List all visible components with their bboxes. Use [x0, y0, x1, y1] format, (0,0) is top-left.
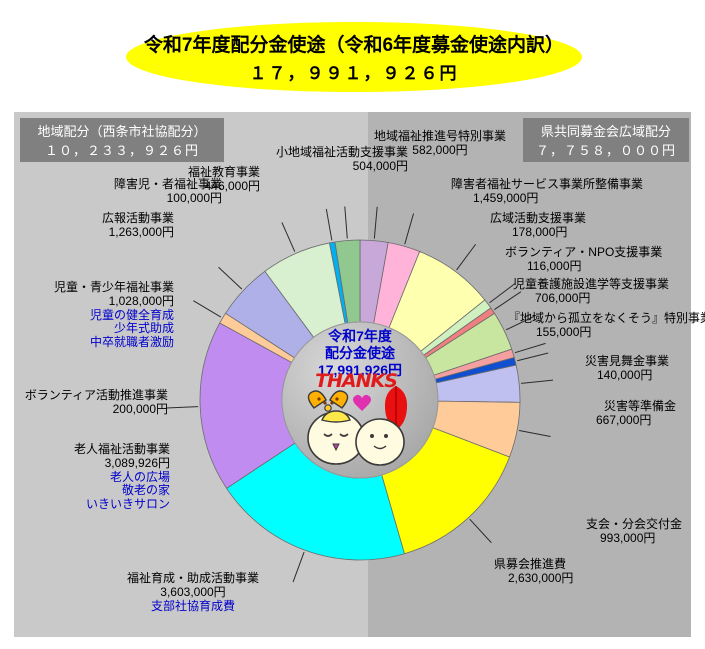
leader-line — [166, 407, 198, 408]
heart-icon — [353, 395, 371, 411]
ribbon-icon — [308, 391, 347, 411]
leader-line — [515, 343, 546, 352]
thanks-text: THANKS — [296, 370, 416, 392]
header-local-amount: １０，２３３，９２６円 — [45, 140, 199, 159]
leader-line — [490, 283, 516, 302]
leader-line — [345, 207, 348, 239]
label-jidou-yougo: 児童養護施設進学等支援事業 706,000円 — [513, 278, 669, 306]
leader-line — [219, 267, 242, 289]
label-kodoku-taisaku: 『地域から孤立をなくそう』特別事業 155,000円 — [508, 312, 705, 340]
label-shougaisha-service: 障害者福祉サービス事業所整備事業 1,459,000円 — [451, 178, 643, 206]
center-line-1: 令和7年度 — [286, 328, 434, 345]
label-kouhou-katsudou: 広報活動事業 1,263,000円 — [24, 212, 174, 240]
label-saigai-mimai: 災害見舞金事業 140,000円 — [585, 355, 669, 383]
leader-line — [521, 380, 553, 383]
leader-line — [193, 301, 220, 317]
label-fukushi-ikusei: 福祉育成・助成活動事業 3,603,000円 支部社協育成費 — [88, 572, 298, 613]
label-kenbokai-suishin: 県募会推進費 2,630,000円 — [494, 558, 573, 586]
leader-line — [519, 431, 550, 437]
leader-line — [405, 214, 414, 245]
page-title: 令和7年度配分金使途（令和6年度募金使途内訳） — [144, 30, 564, 57]
label-roujin-fukushi: 老人福祉活動事業 3,089,926円 老人の広場 敬老の家 いきいきサロン — [24, 443, 170, 512]
leader-line — [374, 207, 377, 239]
page-title-banner: 令和7年度配分金使途（令和6年度募金使途内訳） １７，９９１，９２６円 — [126, 22, 582, 92]
leader-line — [326, 209, 332, 241]
leader-line — [517, 353, 548, 361]
page-title-total: １７，９９１，９２６円 — [250, 59, 459, 84]
leader-line — [457, 244, 476, 270]
label-saigai-junbi: 災害等準備金 667,000円 — [596, 400, 676, 428]
label-volunteer-suishin: ボランティア活動推進事業 200,000円 — [16, 389, 168, 417]
center-line-2: 配分金使途 — [286, 345, 434, 362]
mascot-right-body — [356, 419, 404, 465]
header-prefectural-title: 県共同募金会広域配分 — [541, 121, 671, 140]
header-prefectural-amount: ７，７５８，０００円 — [536, 140, 676, 159]
leader-line — [282, 222, 295, 251]
header-local-allocation: 地域配分（西条市社協配分） １０，２３３，９２６円 — [20, 118, 224, 162]
header-local-title: 地域配分（西条市社協配分） — [37, 121, 206, 140]
label-volunteer-npo: ボランティア・NPO支援事業 116,000円 — [505, 246, 662, 274]
label-chiiki-suishin: 地域福祉推進号特別事業 582,000円 — [356, 130, 524, 158]
header-prefectural-allocation: 県共同募金会広域配分 ７，７５８，０００円 — [523, 118, 689, 162]
label-kouiki-katsudou: 広域活動支援事業 178,000円 — [490, 212, 586, 240]
label-shikai-bunkai: 支会・分会交付金 993,000円 — [586, 518, 682, 546]
label-jidou-seishounen: 児童・青少年福祉事業 1,028,000円 児童の健全育成 少年式助成 中卒就職… — [14, 281, 174, 350]
leader-line — [470, 519, 492, 543]
